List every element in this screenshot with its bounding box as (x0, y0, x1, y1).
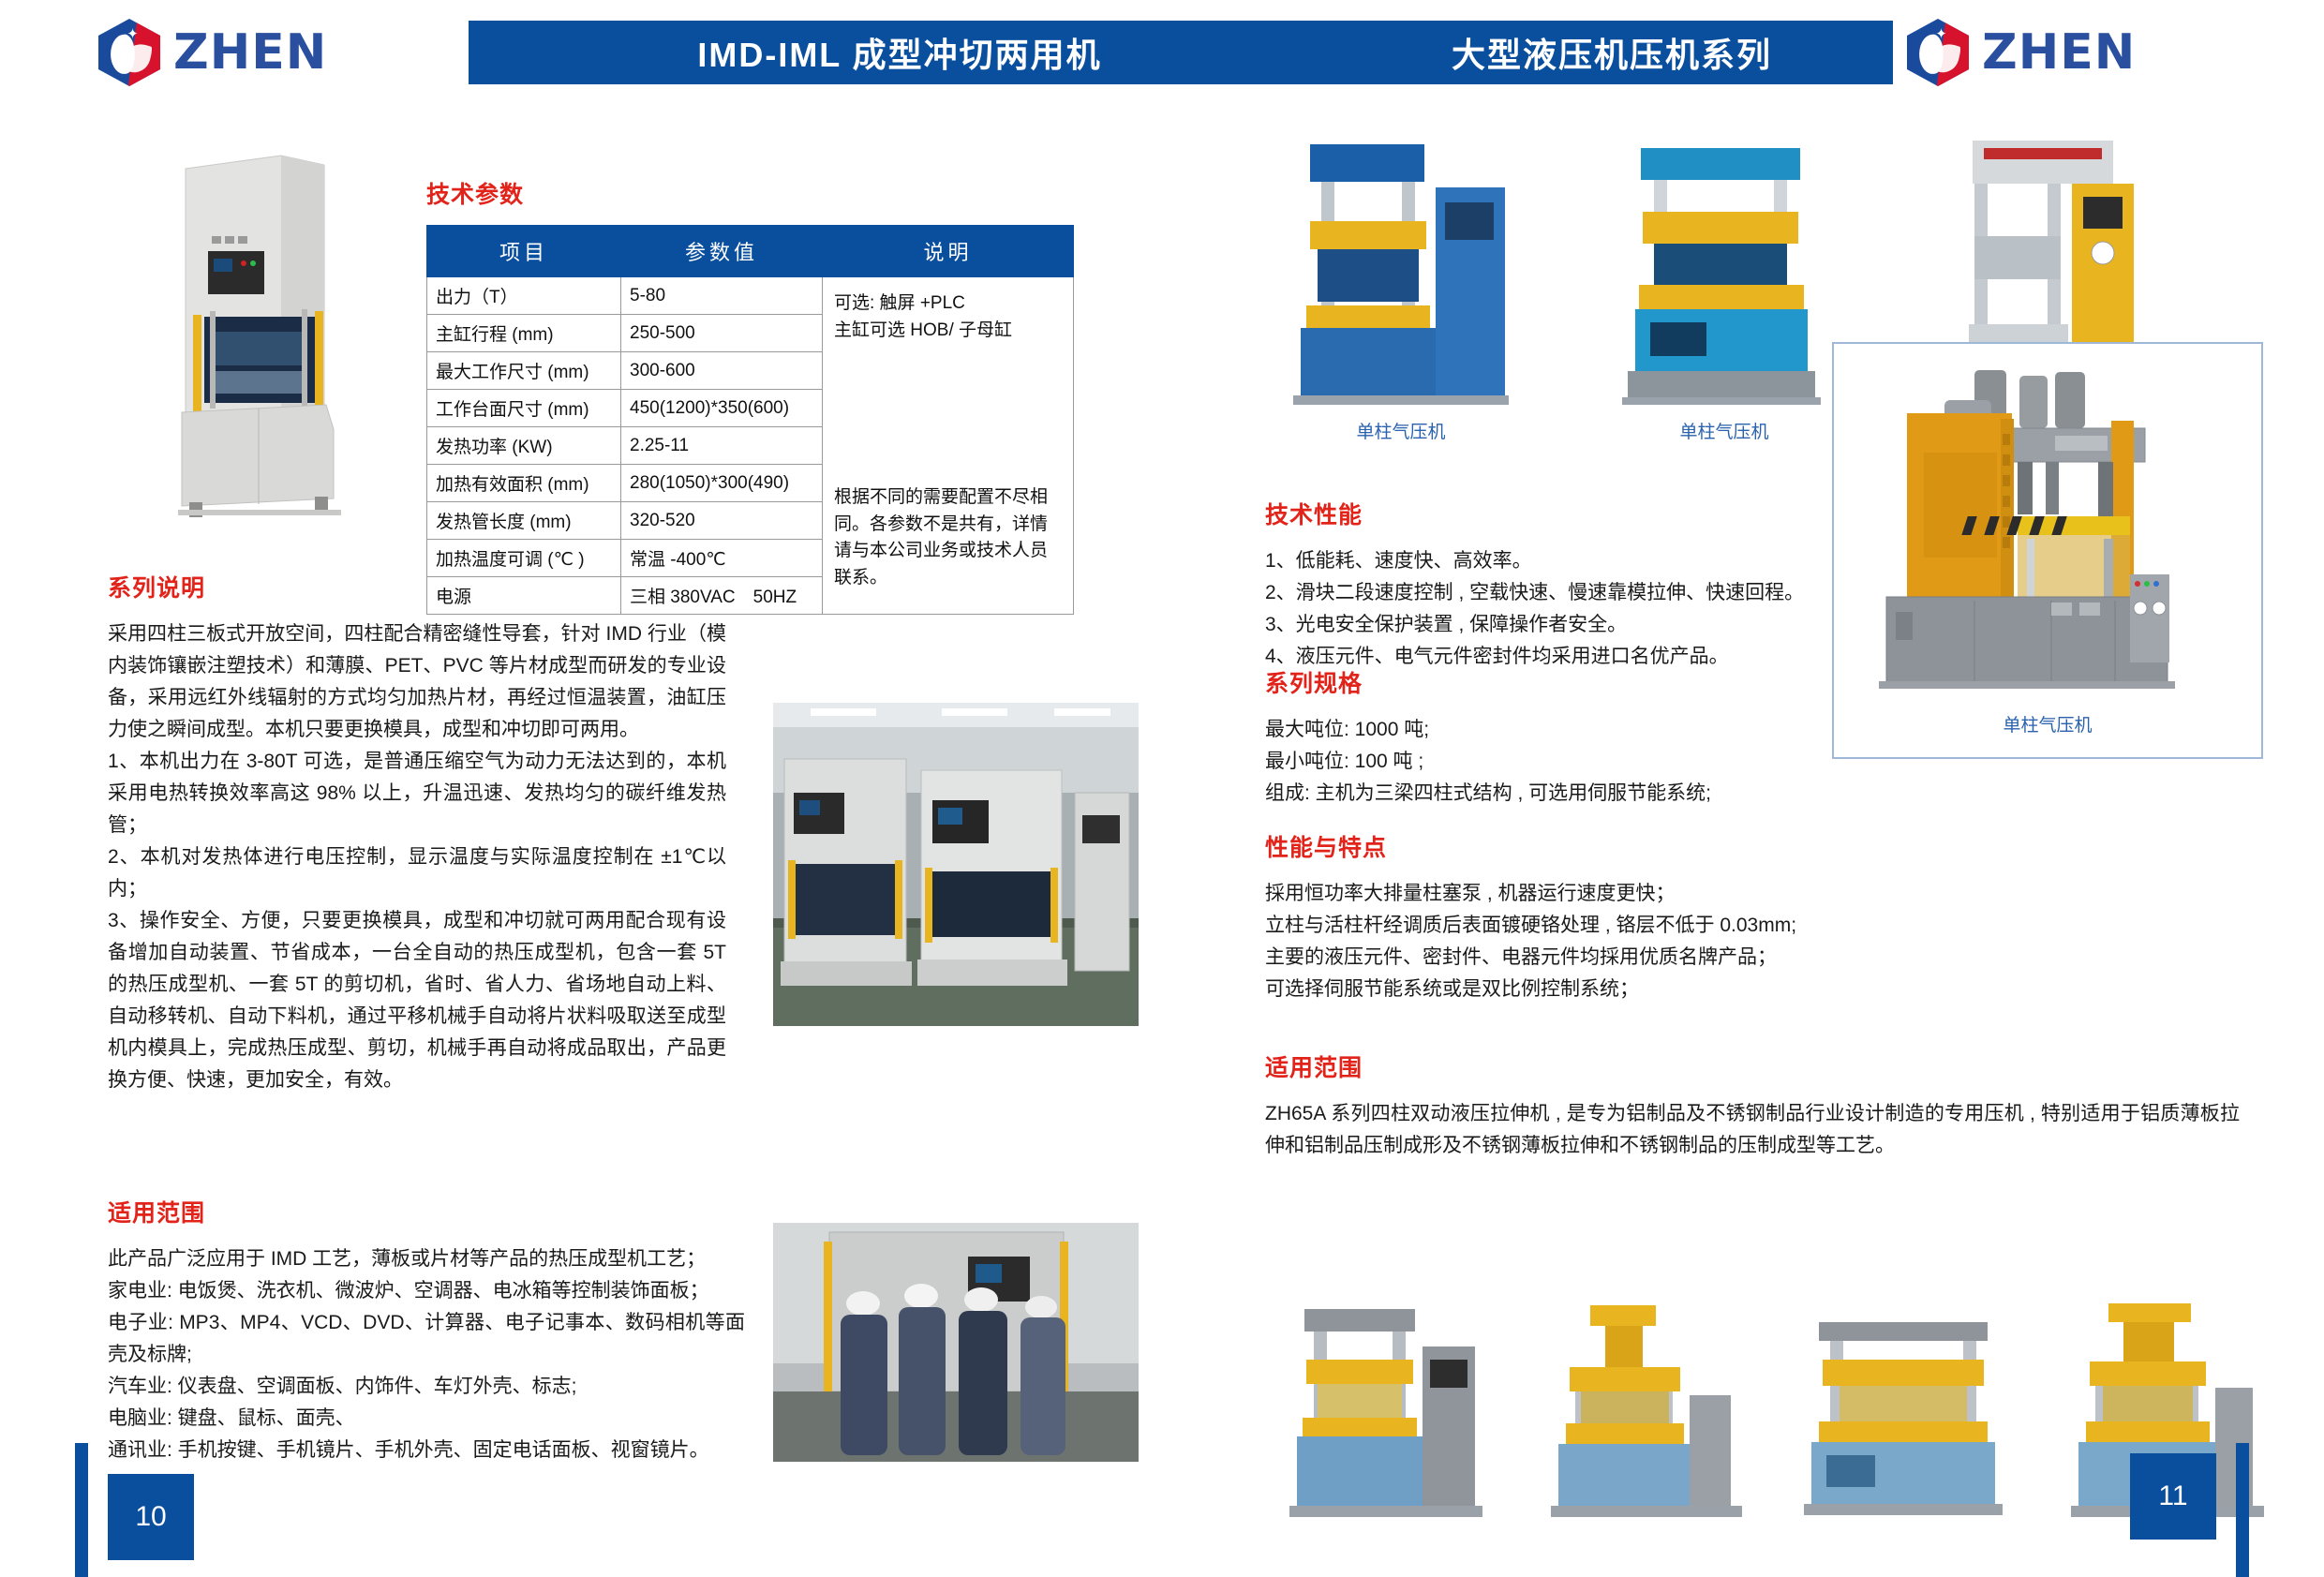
scope-section-heading: 适用范围 (108, 1195, 745, 1228)
tech-performance-item: 3、光电安全保护装置 , 保障操作者安全。 (1265, 609, 1809, 641)
factory-production-line-photo (773, 703, 1139, 1026)
scope-block-left: 适用范围 此产品广泛应用于 IMD 工艺，薄板或片材等产品的热压成型机工艺；家电… (108, 1195, 745, 1466)
page-header: ✦ ZHEN IMD-IML 成型冲切两用机 大型液压机压机系列 ✦ ZHEN (0, 0, 2324, 103)
cell-value: 5-80 (621, 277, 823, 315)
featured-press-frame: 单柱气压机 (1832, 342, 2263, 759)
series-spec-heading: 系列规格 (1265, 665, 1790, 699)
perf-features-items: 採用恒功率大排量柱塞泵 , 机器运行速度更快；立柱与活柱杆经调质后表面镀硬铬处理… (1265, 878, 1809, 1005)
cell-item: 最大工作尺寸 (mm) (427, 352, 621, 390)
technical-parameters-block: 技术参数 项目 参数值 说明 出力（T）5-80可选: 触屏 +PLC主缸可选 … (426, 176, 1073, 615)
press-photo-2: 单柱气压机 (1588, 131, 1860, 412)
star-icon: ✦ (127, 28, 139, 40)
series-point: 1、本机出力在 3-80T 可选，是普通压缩空气为动力无法达到的，本机采用电热转… (108, 746, 726, 841)
cell-item: 发热管长度 (mm) (427, 502, 621, 540)
page-edge-bar-left (75, 1443, 88, 1577)
technical-parameters-body: 出力（T）5-80可选: 触屏 +PLC主缸可选 HOB/ 子母缸根据不同的需要… (427, 277, 1074, 615)
tech-performance-item: 2、滑块二段速度控制 , 空载快速、慢速靠模拉伸、快速回程。 (1265, 577, 1809, 609)
cell-value: 280(1050)*300(490) (621, 465, 823, 502)
perf-feature-item: 採用恒功率大排量柱塞泵 , 机器运行速度更快； (1265, 878, 1809, 910)
scope-line: 汽车业: 仪表盘、空调面板、内饰件、车灯外壳、标志; (108, 1371, 745, 1403)
scope-line: 家电业: 电饭煲、洗衣机、微波炉、空调器、电冰箱等控制装饰面板； (108, 1275, 745, 1307)
engineers-inspecting-machine-photo (773, 1223, 1139, 1462)
press-photo-1: 单柱气压机 (1265, 131, 1537, 412)
dove-flame-hexagon-logo-icon: ✦ (98, 19, 160, 86)
brand-logo-right: ✦ ZHEN (1907, 19, 2136, 86)
cell-value: 450(1200)*350(600) (621, 390, 823, 427)
table-header-row: 项目 参数值 说明 (427, 226, 1074, 277)
right-page: 单柱气压机 单柱气压机 (1176, 103, 2324, 1577)
tech-performance-item: 1、低能耗、速度快、高效率。 (1265, 545, 1809, 577)
bottom-press-photo-3 (1785, 1298, 2019, 1532)
page-number-right: 11 (2130, 1453, 2216, 1540)
scope-right-text: ZH65A 系列四柱双动液压拉伸机 , 是专为铝制品及不锈钢制品行业设计制造的专… (1265, 1098, 2240, 1162)
note-optional-config: 可选: 触屏 +PLC主缸可选 HOB/ 子母缸 (834, 290, 1062, 344)
cell-item: 主缸行程 (mm) (427, 315, 621, 352)
col-header-item: 项目 (427, 226, 621, 277)
series-intro: 采用四柱三板式开放空间，四柱配合精密缝性导套，针对 IMD 行业（模内装饰镶嵌注… (108, 618, 726, 746)
bottom-press-photo-1 (1265, 1298, 1499, 1532)
cell-item: 工作台面尺寸 (mm) (427, 390, 621, 427)
technical-parameters-table: 项目 参数值 说明 出力（T）5-80可选: 触屏 +PLC主缸可选 HOB/ … (426, 225, 1074, 615)
tech-performance-items: 1、低能耗、速度快、高效率。2、滑块二段速度控制 , 空载快速、慢速靠模拉伸、快… (1265, 545, 1809, 673)
left-page: 技术参数 项目 参数值 说明 出力（T）5-80可选: 触屏 +PLC主缸可选 … (0, 103, 1176, 1577)
banner-right: 大型液压机压机系列 (1331, 21, 1893, 84)
series-point: 2、本机对发热体进行电压控制，显示温度与实际温度控制在 ±1℃以内； (108, 841, 726, 905)
scope-lines: 此产品广泛应用于 IMD 工艺，薄板或片材等产品的热压成型机工艺；家电业: 电饭… (108, 1243, 745, 1466)
brand-wordmark: ZHEN (1982, 24, 2136, 81)
brand-wordmark: ZHEN (173, 24, 327, 81)
banner-right-title: 大型液压机压机系列 (1452, 28, 1772, 77)
cell-item: 发热功率 (KW) (427, 427, 621, 465)
series-description-block: 系列说明 采用四柱三板式开放空间，四柱配合精密缝性导套，针对 IMD 行业（模内… (108, 570, 726, 1096)
table-row: 出力（T）5-80可选: 触屏 +PLC主缸可选 HOB/ 子母缸根据不同的需要… (427, 277, 1074, 315)
scope-line: 电脑业: 键盘、鼠标、面壳、 (108, 1403, 745, 1435)
featured-press-caption: 单柱气压机 (1834, 707, 2261, 736)
page-edge-bar-right (2236, 1443, 2249, 1577)
col-header-value: 参数值 (621, 226, 823, 277)
series-spec-item: 最小吨位: 100 吨 ; (1265, 746, 1790, 778)
cell-item: 出力（T） (427, 277, 621, 315)
press-caption-1: 单柱气压机 (1265, 418, 1537, 443)
col-header-note: 说明 (823, 226, 1074, 277)
banner-left-title: IMD-IML 成型冲切两用机 (697, 28, 1101, 77)
perf-feature-item: 立柱与活柱杆经调质后表面镀硬铬处理 , 铬层不低于 0.03mm; (1265, 910, 1809, 942)
perf-features-block: 性能与特点 採用恒功率大排量柱塞泵 , 机器运行速度更快；立柱与活柱杆经调质后表… (1265, 829, 1809, 1005)
page-number-left: 10 (108, 1474, 194, 1560)
series-points: 1、本机出力在 3-80T 可选，是普通压缩空气为动力无法达到的，本机采用电热转… (108, 746, 726, 1096)
perf-features-heading: 性能与特点 (1265, 829, 1809, 863)
banner-left: IMD-IML 成型冲切两用机 (469, 21, 1331, 84)
series-point: 3、操作安全、方便，只要更换模具，成型和冲切就可两用配合现有设备增加自动装置、节… (108, 905, 726, 1096)
star-icon: ✦ (1935, 28, 1947, 40)
brand-logo-left: ✦ ZHEN (98, 19, 327, 86)
note-disclaimer: 根据不同的需要配置不尽相同。各参数不是共有，详情请与本公司业务或技术人员联系。 (834, 484, 1062, 591)
series-spec-items: 最大吨位: 1000 吨;最小吨位: 100 吨 ;组成: 主机为三梁四柱式结构… (1265, 714, 1790, 810)
cell-item: 加热有效面积 (mm) (427, 465, 621, 502)
series-spec-item: 最大吨位: 1000 吨; (1265, 714, 1790, 746)
series-spec-block: 系列规格 最大吨位: 1000 吨;最小吨位: 100 吨 ;组成: 主机为三梁… (1265, 665, 1790, 810)
series-spec-item: 组成: 主机为三梁四柱式结构 , 可选用伺服节能系统; (1265, 778, 1790, 810)
scope-line: 此产品广泛应用于 IMD 工艺，薄板或片材等产品的热压成型机工艺； (108, 1243, 745, 1275)
cell-value: 250-500 (621, 315, 823, 352)
series-section-heading: 系列说明 (108, 570, 726, 603)
scope-right-heading: 适用范围 (1265, 1049, 2240, 1083)
press-caption-2: 单柱气压机 (1588, 418, 1860, 443)
cell-value: 2.25-11 (621, 427, 823, 465)
series-description-text: 采用四柱三板式开放空间，四柱配合精密缝性导套，针对 IMD 行业（模内装饰镶嵌注… (108, 618, 726, 1096)
cell-note: 可选: 触屏 +PLC主缸可选 HOB/ 子母缸根据不同的需要配置不尽相同。各参… (823, 277, 1074, 615)
scope-block-right: 适用范围 ZH65A 系列四柱双动液压拉伸机 , 是专为铝制品及不锈钢制品行业设… (1265, 1049, 2240, 1162)
cell-value: 300-600 (621, 352, 823, 390)
cell-value: 320-520 (621, 502, 823, 540)
dove-flame-hexagon-logo-icon: ✦ (1907, 19, 1969, 86)
imd-iml-forming-machine-photo (141, 131, 384, 525)
perf-feature-item: 主要的液压元件、密封件、电器元件均採用优质名牌产品； (1265, 942, 1809, 974)
scope-line: 通讯业: 手机按键、手机镜片、手机外壳、固定电话面板、视窗镜片。 (108, 1435, 745, 1466)
tech-performance-heading: 技术性能 (1265, 497, 1809, 530)
perf-feature-item: 可选择伺服节能系统或是双比例控制系统； (1265, 974, 1809, 1005)
bottom-press-photo-2 (1523, 1298, 1757, 1532)
spec-section-heading: 技术参数 (426, 176, 1073, 210)
scope-line: 电子业: MP3、MP4、VCD、DVD、计算器、电子记事本、数码相机等面壳及标… (108, 1307, 745, 1371)
tech-performance-block: 技术性能 1、低能耗、速度快、高效率。2、滑块二段速度控制 , 空载快速、慢速靠… (1265, 497, 1809, 673)
catalog-spread: ✦ ZHEN IMD-IML 成型冲切两用机 大型液压机压机系列 ✦ ZHEN (0, 0, 2324, 1577)
